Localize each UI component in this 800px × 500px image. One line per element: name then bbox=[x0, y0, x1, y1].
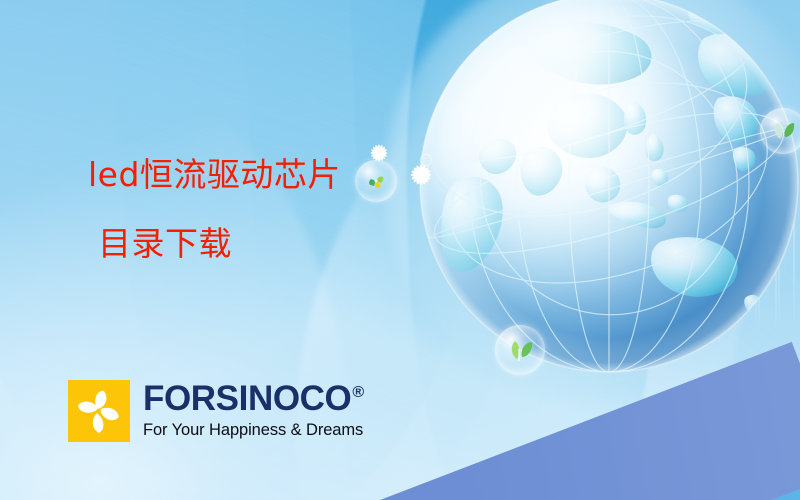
bubble-with-leaves bbox=[495, 325, 545, 375]
logo-text-block: FORSINOCO® For Your Happiness & Dreams bbox=[143, 380, 364, 440]
headline-line-1: led恒流驱动芯片 bbox=[88, 158, 430, 191]
registered-trademark-symbol: ® bbox=[352, 385, 363, 401]
logo-wordmark: FORSINOCO® bbox=[143, 382, 364, 416]
bubble-edge-right bbox=[760, 108, 800, 154]
logo-tagline: For Your Happiness & Dreams bbox=[143, 421, 364, 440]
headline-line-2: 目录下载 bbox=[98, 227, 430, 260]
sprout-icon bbox=[760, 108, 800, 154]
brand-logo: FORSINOCO® For Your Happiness & Dreams bbox=[68, 380, 364, 442]
leaf-sprout-icon bbox=[495, 325, 545, 375]
headline: led恒流驱动芯片 目录下载 bbox=[0, 158, 430, 260]
promo-banner: led恒流驱动芯片 目录下载 FORSINOCO® For Your Happi… bbox=[0, 0, 800, 500]
forsinoco-pinwheel-flower-mark bbox=[68, 380, 130, 442]
logo-wordmark-text: FORSINOCO bbox=[143, 382, 351, 416]
3d-earth-globe bbox=[418, 0, 800, 374]
